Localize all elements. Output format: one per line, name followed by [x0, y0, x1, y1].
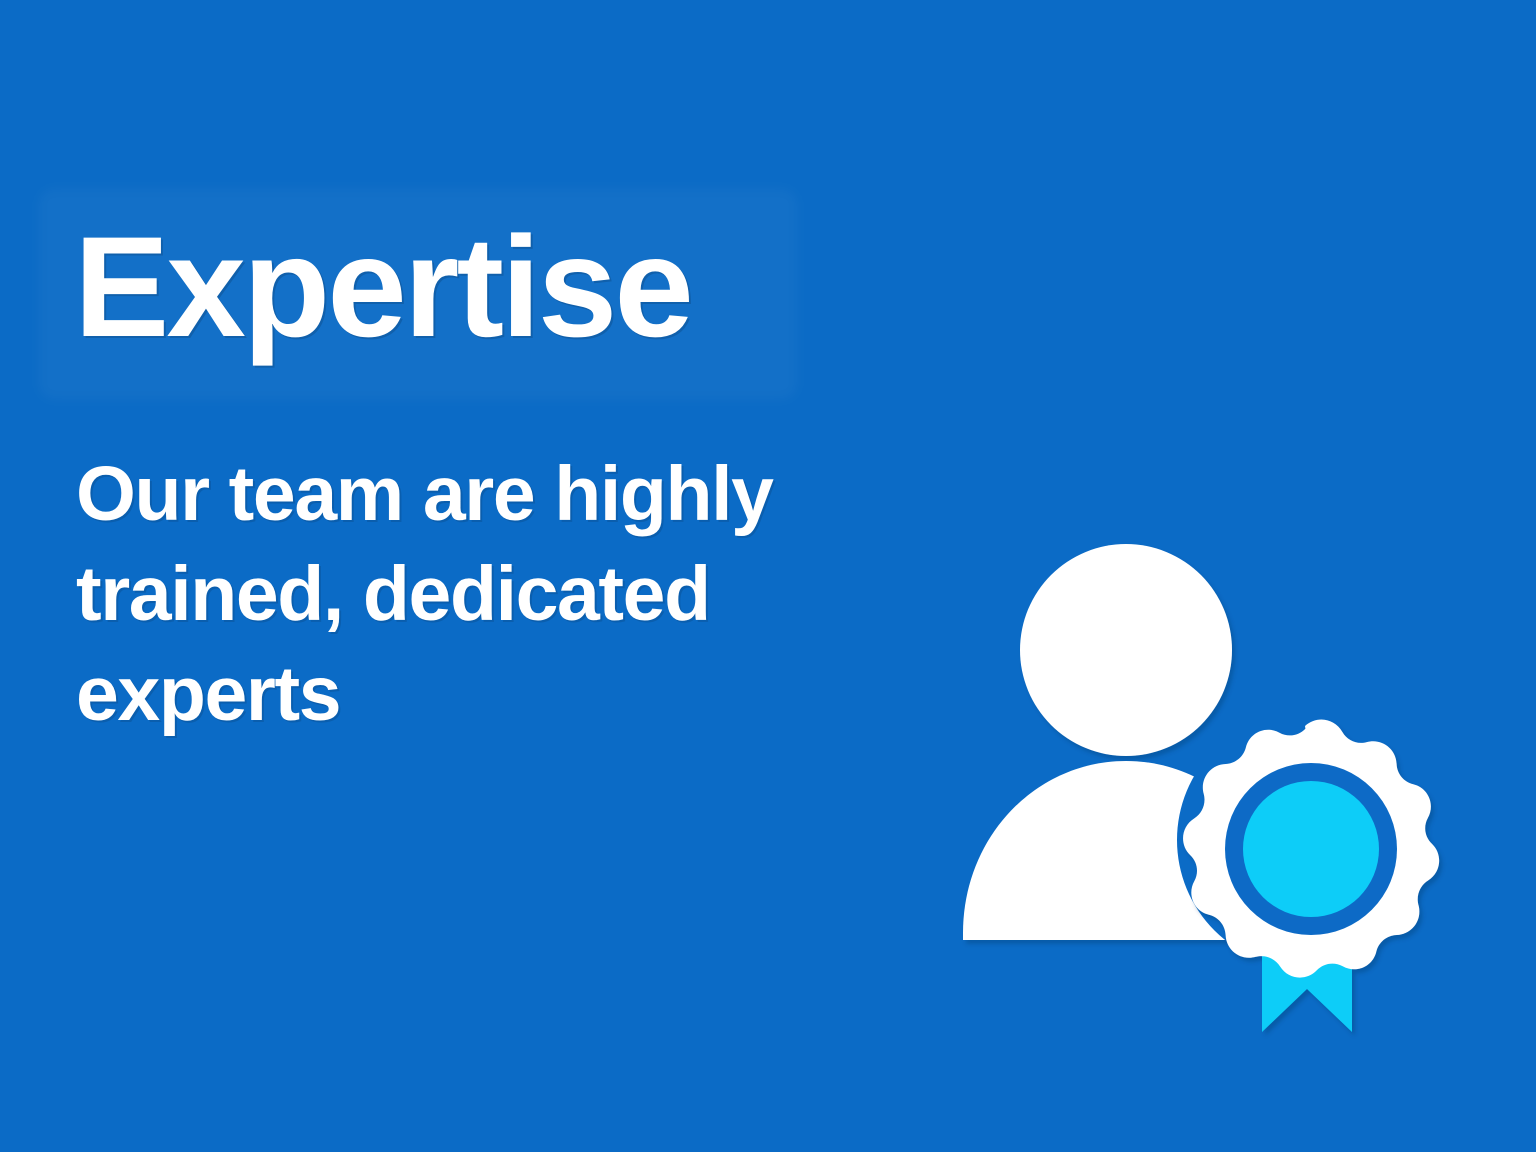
- badge-center: [1243, 781, 1379, 917]
- subtitle-text: Our team are highly trained, dedicated e…: [76, 444, 916, 744]
- page-title: Expertise: [74, 216, 691, 359]
- award-badge: [1183, 720, 1439, 1032]
- expert-person-badge-icon: [930, 515, 1450, 1075]
- slide-canvas: Expertise Our team are highly trained, d…: [0, 0, 1536, 1152]
